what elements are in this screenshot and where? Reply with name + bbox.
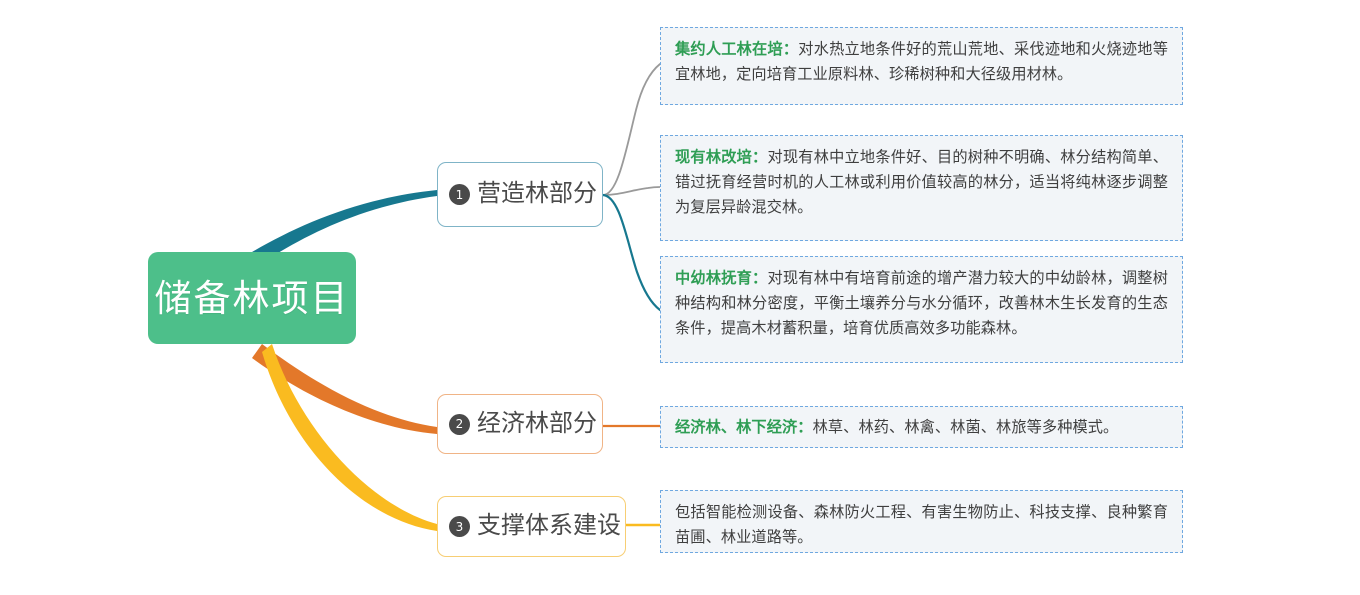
connector-root-to-branch-3 xyxy=(262,344,437,531)
branch-node-3-label: 支撑体系建设 xyxy=(477,513,621,539)
branch-number-badge-1: 1 xyxy=(449,184,470,205)
branch-number-badge-3: 3 xyxy=(449,516,470,537)
root-node[interactable]: 储备林项目 xyxy=(148,252,356,344)
connector-branch1-to-leaf-2 xyxy=(603,187,660,195)
branch-node-3[interactable]: 3 支撑体系建设 xyxy=(437,496,626,557)
branch-node-2-label: 经济林部分 xyxy=(477,411,597,437)
leaf-3-prefix: 中幼林抚育： xyxy=(675,270,767,287)
leaf-box-5[interactable]: 包括智能检测设备、森林防火工程、有害生物防止、科技支撑、良种繁育苗圃、林业道路等… xyxy=(660,490,1183,553)
leaf-5-text: 包括智能检测设备、森林防火工程、有害生物防止、科技支撑、良种繁育苗圃、林业道路等… xyxy=(675,500,1168,550)
leaf-4-text: 经济林、林下经济：林草、林药、林禽、林菌、林旅等多种模式。 xyxy=(675,416,1168,440)
leaf-4-prefix: 经济林、林下经济： xyxy=(675,419,813,436)
branch-number-badge-2: 2 xyxy=(449,414,470,435)
mindmap-canvas: 储备林项目 1 营造林部分 2 经济林部分 3 支撑体系建设 集约人工林在培：对… xyxy=(0,0,1360,595)
leaf-box-3[interactable]: 中幼林抚育：对现有林中有培育前途的增产潜力较大的中幼龄林，调整树种结构和林分密度… xyxy=(660,256,1183,363)
leaf-box-4[interactable]: 经济林、林下经济：林草、林药、林禽、林菌、林旅等多种模式。 xyxy=(660,406,1183,448)
connector-branch1-to-leaf-1 xyxy=(603,64,660,195)
leaf-1-prefix: 集约人工林在培： xyxy=(675,41,798,58)
leaf-box-2[interactable]: 现有林改培：对现有林中立地条件好、目的树种不明确、林分结构简单、错过抚育经营时机… xyxy=(660,135,1183,241)
branch-node-2[interactable]: 2 经济林部分 xyxy=(437,394,603,454)
leaf-2-prefix: 现有林改培： xyxy=(675,149,767,166)
branch-node-1-label: 营造林部分 xyxy=(477,181,597,207)
leaf-1-text: 集约人工林在培：对水热立地条件好的荒山荒地、采伐迹地和火烧迹地等宜林地，定向培育… xyxy=(675,37,1168,87)
root-node-label: 储备林项目 xyxy=(155,280,350,317)
branch-node-1[interactable]: 1 营造林部分 xyxy=(437,162,603,227)
connector-branch1-to-leaf-3 xyxy=(603,195,660,310)
leaf-4-body: 林草、林药、林禽、林菌、林旅等多种模式。 xyxy=(813,419,1119,436)
leaf-2-text: 现有林改培：对现有林中立地条件好、目的树种不明确、林分结构简单、错过抚育经营时机… xyxy=(675,145,1168,220)
leaf-box-1[interactable]: 集约人工林在培：对水热立地条件好的荒山荒地、采伐迹地和火烧迹地等宜林地，定向培育… xyxy=(660,27,1183,105)
leaf-3-text: 中幼林抚育：对现有林中有培育前途的增产潜力较大的中幼龄林，调整树种结构和林分密度… xyxy=(675,266,1168,341)
leaf-5-body: 包括智能检测设备、森林防火工程、有害生物防止、科技支撑、良种繁育苗圃、林业道路等… xyxy=(675,504,1168,546)
connector-root-to-branch-2 xyxy=(252,344,437,434)
